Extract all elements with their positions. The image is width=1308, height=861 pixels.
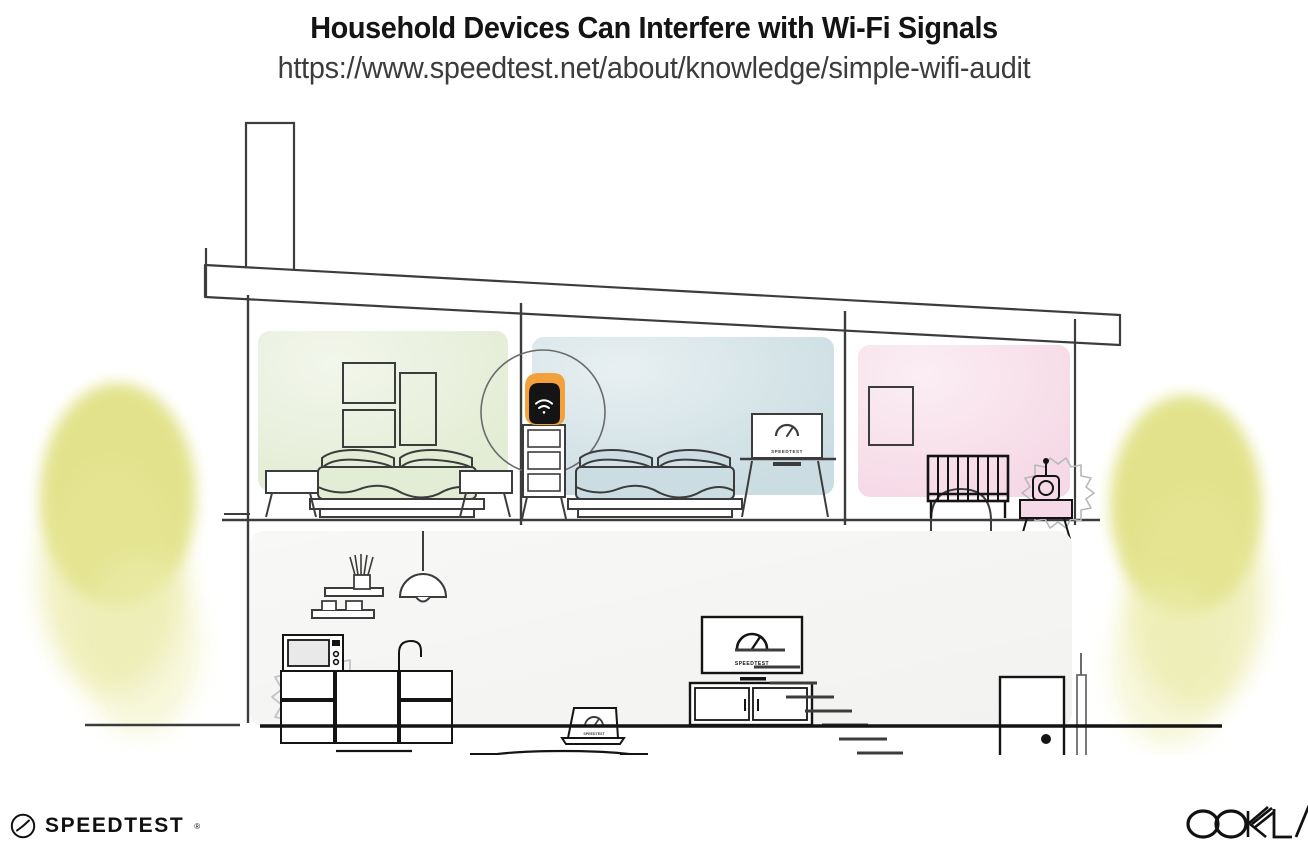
page-title: Household Devices Can Interfere with Wi-…	[46, 0, 1262, 48]
wifi-router[interactable]	[525, 373, 565, 425]
router-body	[529, 383, 560, 424]
speedtest-logo[interactable]: SPEEDTEST ®	[10, 813, 200, 839]
lower-floor: SPEEDTEST	[248, 525, 1086, 755]
exterior-post	[1077, 653, 1086, 755]
foliage-right	[1110, 395, 1264, 747]
source-url: https://www.speedtest.net/about/knowledg…	[46, 48, 1262, 88]
laptop-screen-label: SPEEDTEST	[583, 732, 605, 736]
microwave	[283, 635, 343, 671]
speedtest-wordmark: SPEEDTEST	[45, 814, 184, 838]
speedtest-gauge-icon	[10, 813, 36, 839]
room-nursery-pink	[858, 345, 1094, 561]
registered-mark: ®	[194, 822, 200, 831]
ookla-logo[interactable]	[1184, 805, 1308, 839]
header: Household Devices Can Interfere with Wi-…	[0, 0, 1308, 108]
shelf-unit	[522, 425, 566, 519]
media-console	[690, 683, 812, 725]
foliage-left	[40, 383, 200, 735]
ground-lines	[85, 725, 1222, 726]
room-bedroom-blue: SPEEDTEST	[481, 337, 836, 519]
nightstand-left	[266, 471, 318, 517]
front-door[interactable]	[1000, 677, 1064, 755]
monitor-screen-label: SPEEDTEST	[771, 449, 803, 454]
footer: SPEEDTEST ®	[0, 781, 1308, 861]
room-bedroom-green	[224, 331, 512, 517]
infographic-canvas: Household Devices Can Interfere with Wi-…	[0, 0, 1308, 861]
door-knob[interactable]	[1041, 734, 1051, 744]
house-illustration: SPEEDTEST	[0, 105, 1308, 755]
roof-structure	[205, 123, 1120, 345]
